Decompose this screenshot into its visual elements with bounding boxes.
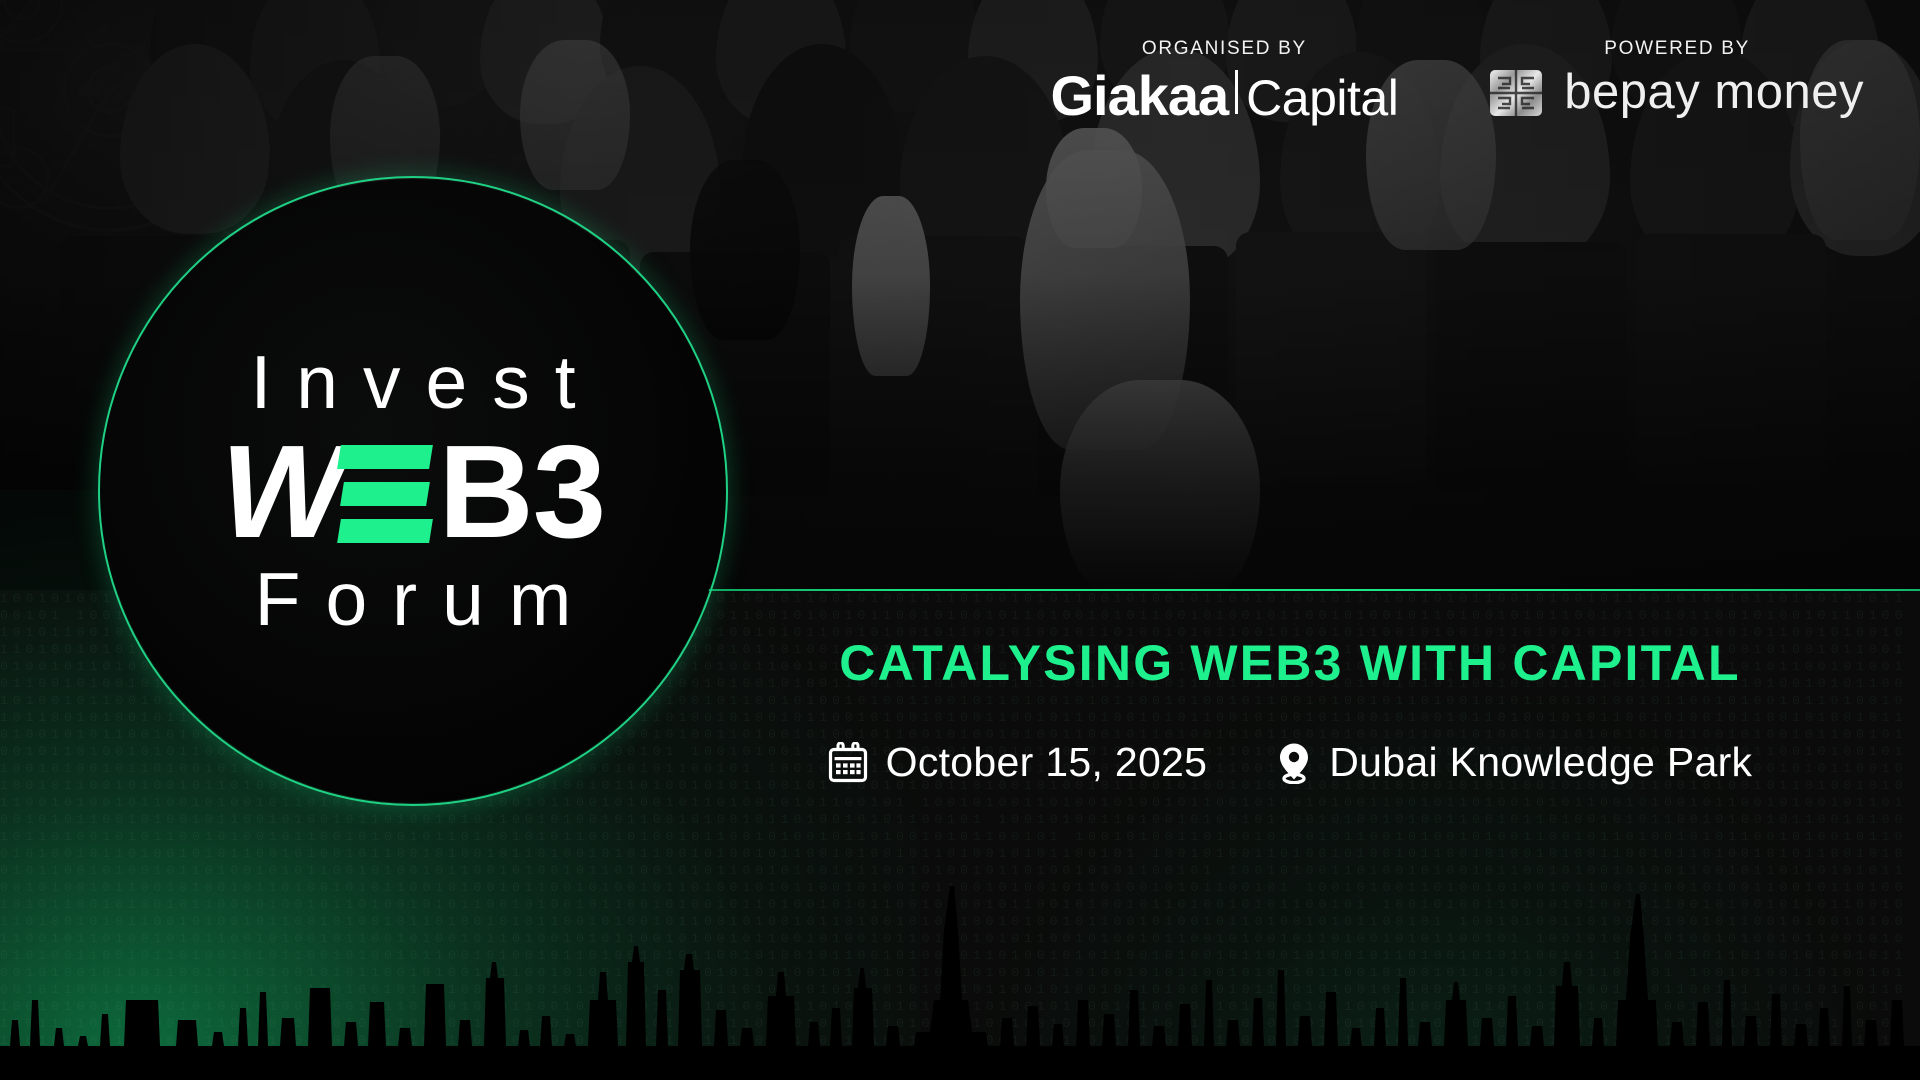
logo-web3-w: W — [221, 426, 338, 558]
logo-line-forum: Forum — [230, 562, 597, 637]
chip-icon — [1490, 70, 1542, 116]
logo-line-invest: Invest — [225, 345, 600, 420]
giakaa-wordmark-light: Capital — [1246, 73, 1398, 123]
location-pin-icon — [1277, 742, 1311, 784]
bepay-wordmark: bepay money — [1564, 68, 1864, 117]
logo-web3-e-bars-icon — [339, 445, 431, 543]
sponsor-kicker: POWERED BY — [1604, 38, 1750, 60]
event-date: October 15, 2025 — [828, 739, 1208, 786]
sponsor-wordmark: Giakaa Capital — [1050, 68, 1398, 124]
green-divider — [610, 589, 1920, 591]
logo-web3-b3: B3 — [438, 426, 605, 558]
logo-line-web3: W B3 — [221, 426, 605, 558]
event-details: CATALYSING WEB3 WITH CAPITAL — [700, 636, 1880, 786]
invest-web3-forum-logo: Invest W B3 Forum — [98, 176, 728, 806]
wordmark-divider-bar — [1235, 70, 1238, 114]
sponsor-kicker: ORGANISED BY — [1142, 38, 1307, 60]
sponsor-powered-by: POWERED BY bepay money — [1490, 38, 1864, 117]
sponsor-organised-by: ORGANISED BY Giakaa Capital — [1050, 38, 1398, 124]
event-date-text: October 15, 2025 — [886, 739, 1208, 786]
event-banner: 20 26 14 — [0, 0, 1920, 1080]
calendar-icon — [828, 742, 868, 784]
sponsor-lockups: ORGANISED BY Giakaa Capital POWERED BY — [1050, 38, 1864, 124]
event-tagline: CATALYSING WEB3 WITH CAPITAL — [700, 636, 1880, 691]
event-location-text: Dubai Knowledge Park — [1329, 739, 1752, 786]
sponsor-wordmark: bepay money — [1490, 68, 1864, 117]
dubai-skyline — [0, 850, 1920, 1080]
event-location: Dubai Knowledge Park — [1277, 739, 1752, 786]
event-meta-row: October 15, 2025 Dubai Knowledge Park — [700, 739, 1880, 786]
giakaa-wordmark-bold: Giakaa — [1050, 68, 1228, 124]
